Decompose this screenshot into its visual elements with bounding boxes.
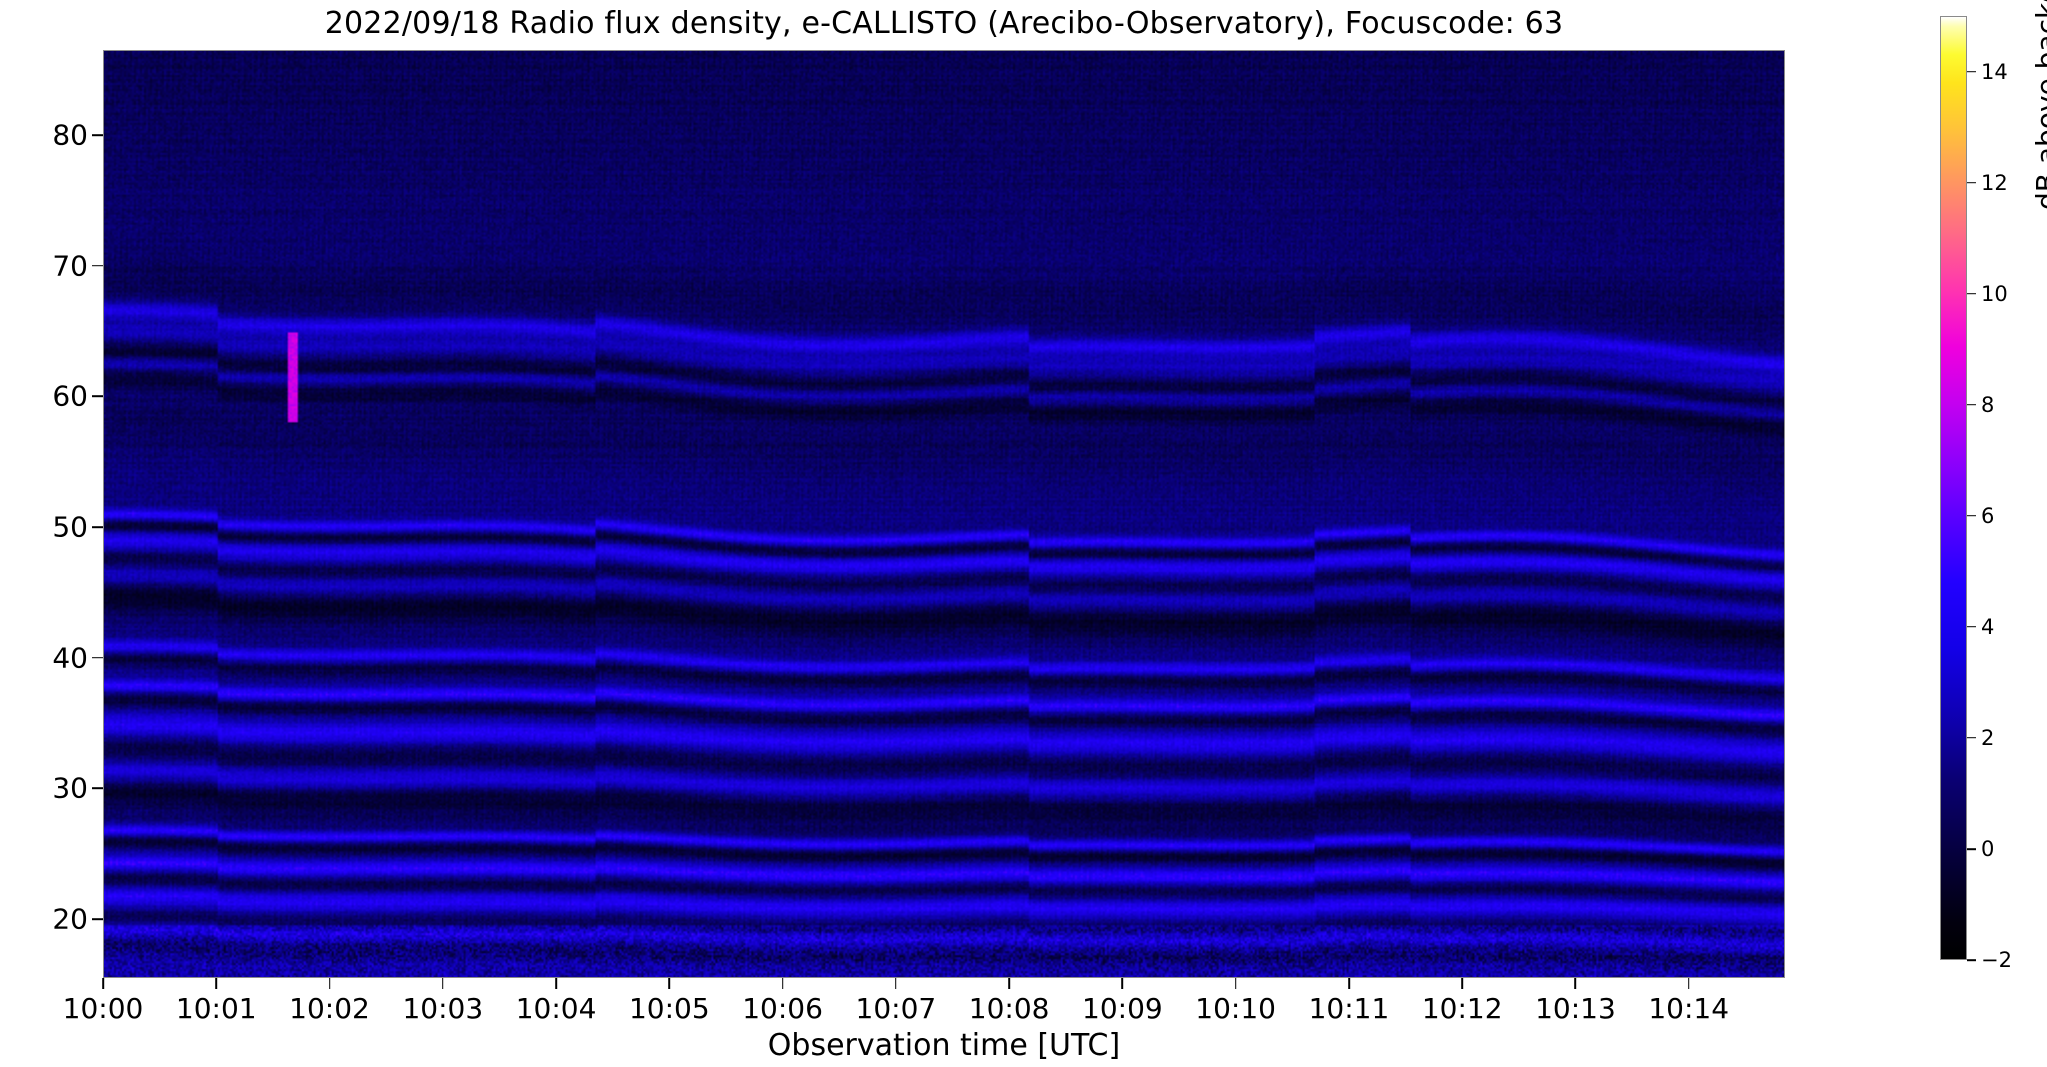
colorbar-label: dB above background	[2030, 0, 2047, 210]
colorbar-tick-label: −2	[1981, 948, 2012, 972]
x-tick-mark	[1122, 978, 1124, 989]
y-tick-label: 50	[8, 511, 88, 544]
colorbar-tick-label: 0	[1981, 837, 1994, 861]
colorbar-tick-label: 14	[1981, 60, 2008, 84]
x-tick-label: 10:05	[629, 992, 710, 1025]
colorbar-tick-mark	[1967, 737, 1976, 739]
x-tick-label: 10:13	[1535, 992, 1616, 1025]
y-tick-label: 80	[8, 118, 88, 151]
colorbar-tick-label: 10	[1981, 282, 2008, 306]
y-tick-label: 70	[8, 249, 88, 282]
spectrogram-axes	[103, 50, 1785, 978]
x-tick-label: 10:14	[1648, 992, 1729, 1025]
x-tick-mark	[329, 978, 331, 989]
x-tick-label: 10:08	[969, 992, 1050, 1025]
y-tick-mark	[92, 526, 103, 528]
x-tick-mark	[1461, 978, 1463, 989]
y-tick-label: 20	[8, 903, 88, 936]
x-tick-label: 10:10	[1195, 992, 1276, 1025]
x-tick-mark	[1235, 978, 1237, 989]
colorbar	[1940, 16, 1967, 960]
x-tick-label: 10:00	[63, 992, 144, 1025]
y-tick-label: 30	[8, 772, 88, 805]
x-tick-mark	[555, 978, 557, 989]
y-tick-mark	[92, 788, 103, 790]
colorbar-tick-label: 6	[1981, 504, 1994, 528]
colorbar-tick-mark	[1967, 182, 1976, 184]
y-tick-label: 60	[8, 380, 88, 413]
x-tick-mark	[1575, 978, 1577, 989]
colorbar-tick-mark	[1967, 626, 1976, 628]
colorbar-tick-mark	[1967, 71, 1976, 73]
x-tick-mark	[782, 978, 784, 989]
colorbar-tick-mark	[1967, 515, 1976, 517]
y-tick-mark	[92, 265, 103, 267]
x-tick-label: 10:04	[516, 992, 597, 1025]
colorbar-tick-mark	[1967, 404, 1976, 406]
y-tick-mark	[92, 657, 103, 659]
x-tick-mark	[215, 978, 217, 989]
y-tick-mark	[92, 396, 103, 398]
x-tick-mark	[102, 978, 104, 989]
x-tick-mark	[1348, 978, 1350, 989]
x-tick-label: 10:07	[856, 992, 937, 1025]
y-tick-mark	[92, 134, 103, 136]
page-title: 2022/09/18 Radio flux density, e-CALLIST…	[103, 6, 1785, 41]
colorbar-tick-label: 12	[1981, 171, 2008, 195]
colorbar-tick-mark	[1967, 293, 1976, 295]
colorbar-tick-mark	[1967, 848, 1976, 850]
x-tick-label: 10:12	[1422, 992, 1503, 1025]
x-tick-mark	[1008, 978, 1010, 989]
x-tick-label: 10:03	[402, 992, 483, 1025]
colorbar-tick-mark	[1967, 959, 1976, 961]
x-tick-label: 10:11	[1309, 992, 1390, 1025]
x-tick-mark	[442, 978, 444, 989]
x-tick-label: 10:01	[176, 992, 257, 1025]
x-axis-label: Observation time [UTC]	[103, 1028, 1785, 1063]
colorbar-tick-label: 2	[1981, 726, 1994, 750]
y-tick-label: 40	[8, 641, 88, 674]
x-tick-mark	[1688, 978, 1690, 989]
x-tick-label: 10:09	[1082, 992, 1163, 1025]
colorbar-tick-label: 8	[1981, 393, 1994, 417]
figure: 2022/09/18 Radio flux density, e-CALLIST…	[0, 0, 2047, 1067]
x-tick-mark	[895, 978, 897, 989]
colorbar-tick-label: 4	[1981, 615, 1994, 639]
x-tick-mark	[669, 978, 671, 989]
x-tick-label: 10:02	[289, 992, 370, 1025]
x-tick-label: 10:06	[742, 992, 823, 1025]
y-tick-mark	[92, 918, 103, 920]
spectrogram-image	[104, 51, 1784, 977]
